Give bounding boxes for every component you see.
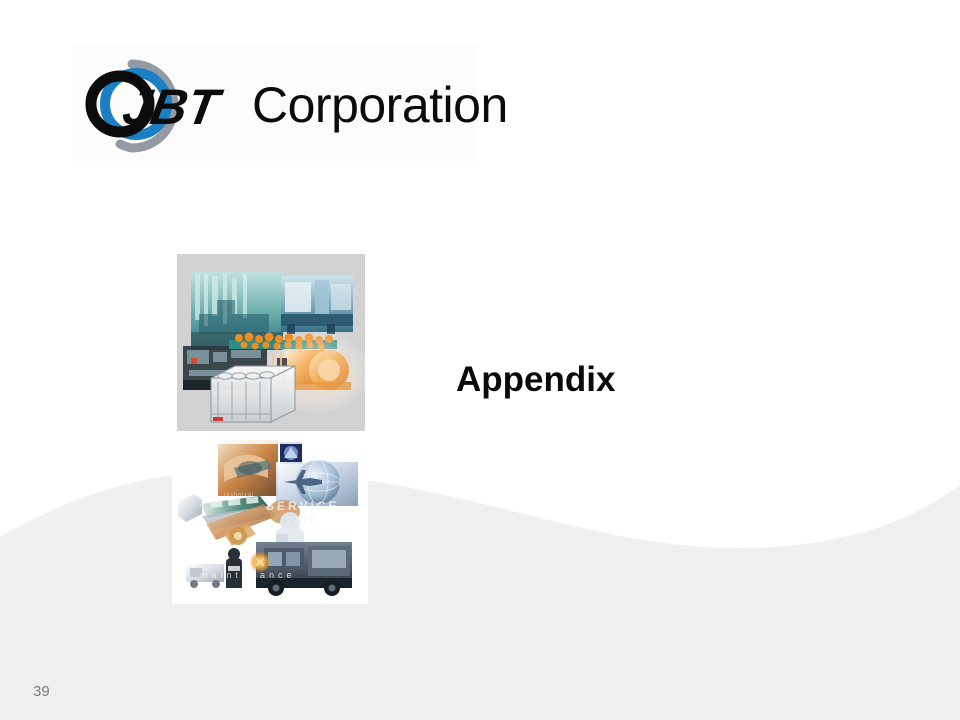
logo-wordmark: Corporation: [252, 76, 508, 134]
wave-shape: [0, 470, 960, 720]
services-collage-graphic: technical support: [172, 438, 368, 604]
jbt-corporation-logo: JBT Corporation: [72, 44, 478, 166]
label-24-7: 24/7: [286, 515, 317, 527]
jbt-logo-mark-icon: JBT: [74, 48, 264, 164]
slide-canvas: JBT Corporation: [0, 0, 960, 720]
label-technical-support: technical: [224, 492, 255, 498]
label-service: SERVICE: [266, 499, 339, 513]
svg-text:JBT: JBT: [119, 78, 228, 135]
machinery-collage-graphic: [177, 254, 365, 431]
logo-lettermark-jbt: JBT: [119, 78, 228, 135]
page-number: 39: [33, 683, 50, 700]
label-maintenance: maintenance: [200, 570, 296, 580]
image-airport-ground-support-services: technical support: [172, 438, 368, 604]
page-title: Appendix: [456, 360, 615, 400]
image-food-processing-machinery: [177, 254, 365, 431]
